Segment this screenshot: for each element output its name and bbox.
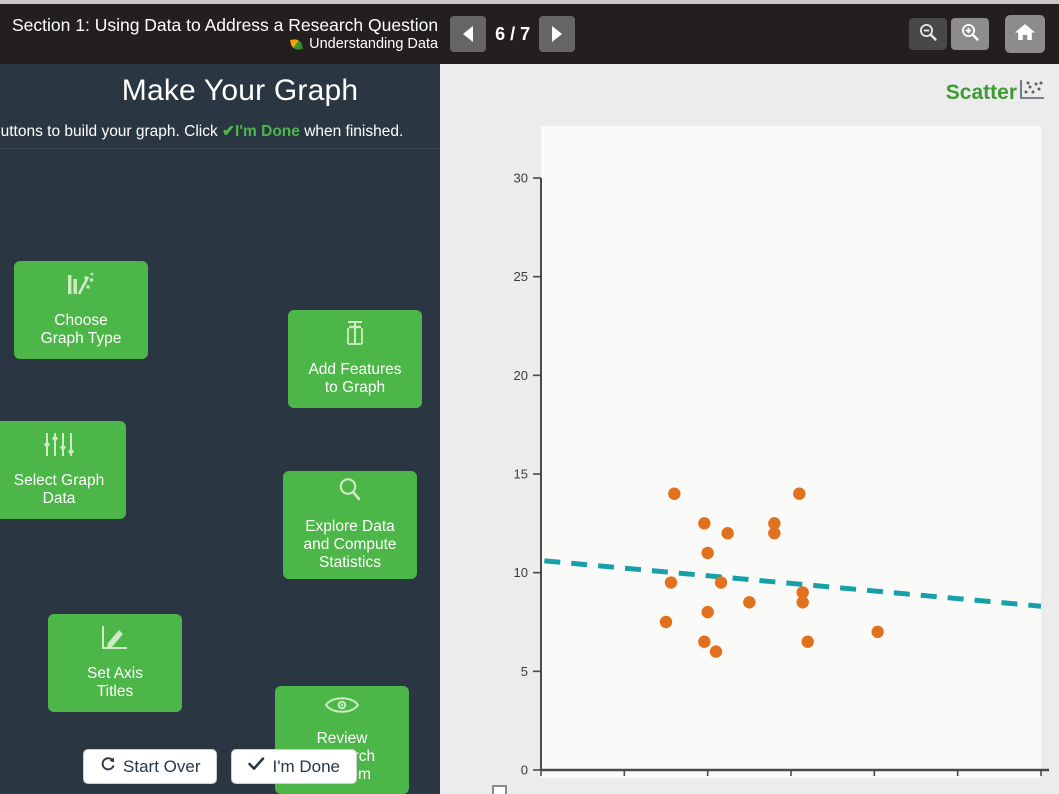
scatter-plot-icon: [1019, 78, 1045, 108]
tool-label: Add Features to Graph: [308, 361, 401, 398]
data-point[interactable]: [701, 547, 713, 559]
trend-line-path: [544, 561, 1041, 606]
data-point[interactable]: [701, 606, 713, 618]
start-over-button[interactable]: Start Over: [83, 749, 217, 784]
page-navigation: 6 / 7: [450, 16, 575, 52]
chart-panel: Scatter 0510152025300.00.51.01.52.02.53.…: [440, 64, 1059, 794]
scatter-chart[interactable]: 0510152025300.00.51.01.52.02.53.0: [450, 118, 1050, 776]
data-point[interactable]: [721, 527, 733, 539]
chart-surface[interactable]: 0510152025300.00.51.01.52.02.53.0: [450, 118, 1050, 776]
instructions-prefix: buttons to build your graph. Click: [0, 123, 222, 140]
magnifier-minus-icon: [918, 22, 938, 47]
section-title: Section 1: Using Data to Address a Resea…: [12, 15, 438, 35]
inline-check-icon: ✔: [222, 123, 235, 140]
magnifier-icon: [335, 475, 365, 510]
start-over-label: Start Over: [123, 757, 200, 777]
data-point[interactable]: [660, 616, 672, 628]
y-tick-label: 20: [514, 368, 528, 383]
data-point[interactable]: [796, 596, 808, 608]
data-point[interactable]: [710, 645, 722, 657]
instructions-suffix: when finished.: [300, 123, 403, 140]
chart-type-label-text: Scatter: [946, 81, 1017, 105]
data-point[interactable]: [665, 576, 677, 588]
data-point[interactable]: [801, 636, 813, 648]
y-tick-label: 25: [514, 269, 528, 284]
tool-label: Select Graph Data: [14, 472, 104, 509]
panel-footer-buttons: Start Over I'm Done: [0, 749, 440, 784]
y-tick-label: 0: [521, 763, 528, 777]
data-point[interactable]: [871, 626, 883, 638]
prev-page-button[interactable]: [450, 16, 486, 52]
bar-scatter-chart-icon: [64, 270, 98, 305]
chart-axes: [533, 178, 1049, 776]
zoom-controls: [909, 15, 1045, 53]
explore-data-button[interactable]: Explore Data and Compute Statistics: [283, 471, 417, 579]
home-icon: [1014, 22, 1036, 47]
tool-button-area: Choose Graph Type Add Features to Graph: [0, 149, 440, 794]
chevron-right-icon: [549, 24, 565, 44]
chart-type-indicator: Scatter: [946, 78, 1045, 108]
top-header-bar: Section 1: Using Data to Address a Resea…: [0, 0, 1059, 64]
im-done-button[interactable]: I'm Done: [231, 749, 357, 784]
data-point[interactable]: [768, 527, 780, 539]
module-label: Understanding Data: [309, 36, 438, 53]
set-axis-titles-button[interactable]: Set Axis Titles: [48, 614, 182, 712]
module-line: Understanding Data: [12, 36, 438, 53]
eye-icon: [324, 693, 360, 722]
data-point[interactable]: [793, 488, 805, 500]
make-your-graph-panel: Make Your Graph buttons to build your gr…: [0, 64, 440, 794]
chevron-left-icon: [460, 24, 476, 44]
add-features-to-graph-button[interactable]: Add Features to Graph: [288, 310, 422, 408]
y-tick-label: 30: [514, 171, 528, 186]
tool-label: Choose Graph Type: [41, 312, 122, 349]
y-tick-label: 15: [514, 467, 528, 482]
im-done-label: I'm Done: [272, 757, 340, 777]
chart-option-checkbox[interactable]: [492, 785, 507, 794]
select-graph-data-button[interactable]: Select Graph Data: [0, 421, 126, 519]
y-tick-label: 10: [514, 565, 528, 580]
leaf-icon: [291, 38, 304, 51]
tool-label: Explore Data and Compute Statistics: [303, 518, 396, 573]
tool-label: Set Axis Titles: [87, 665, 143, 702]
sliders-icon: [39, 430, 79, 465]
page-counter: 6 / 7: [495, 24, 530, 45]
page-title: Make Your Graph: [0, 64, 440, 108]
panel-instructions: buttons to build your graph. Click ✔I'm …: [0, 122, 432, 141]
data-point[interactable]: [698, 636, 710, 648]
next-page-button[interactable]: [539, 16, 575, 52]
check-icon: [248, 756, 265, 777]
zoom-out-button[interactable]: [909, 18, 947, 50]
home-button[interactable]: [1005, 15, 1045, 53]
zoom-in-button[interactable]: [951, 18, 989, 50]
course-title-block: Section 1: Using Data to Address a Resea…: [12, 15, 438, 53]
data-point[interactable]: [668, 488, 680, 500]
data-point[interactable]: [743, 596, 755, 608]
data-point[interactable]: [715, 576, 727, 588]
data-point[interactable]: [698, 517, 710, 529]
y-tick-label: 5: [521, 664, 528, 679]
choose-graph-type-button[interactable]: Choose Graph Type: [14, 261, 148, 359]
pencil-axis-icon: [99, 623, 131, 658]
trend-line: [544, 561, 1041, 606]
axis-tick-labels: 0510152025300.00.51.01.52.02.53.0: [514, 171, 1050, 777]
refresh-icon: [100, 756, 116, 777]
error-bar-icon: [338, 319, 372, 354]
magnifier-plus-icon: [960, 22, 980, 47]
inline-done-label: I'm Done: [235, 123, 300, 140]
